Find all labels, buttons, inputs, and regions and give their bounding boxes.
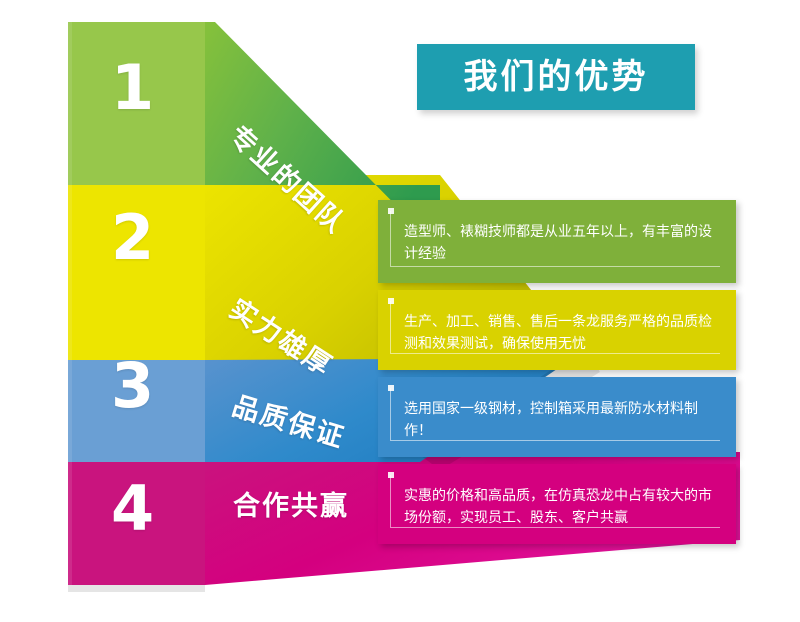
description-text-4: 实惠的价格和高品质，在仿真恐龙中占有较大的市场份额，实现员工、股东、客户共赢 [404,486,716,529]
description-text-3: 选用国家一级钢材，控制箱采用最新防水材料制作！ [404,399,716,442]
description-text-1: 造型师、裱糊技师都是从业五年以上，有丰富的设计经验 [404,222,716,265]
description-panel-3: 选用国家一级钢材，控制箱采用最新防水材料制作！ [378,377,736,457]
step-number-3: 3 [111,355,154,417]
step-number-1: 1 [111,57,154,119]
panel-dot-icon [388,208,394,214]
panel-dot-icon [388,472,394,478]
step-number-2: 2 [111,207,154,269]
infographic-root: 我们的优势 1 2 3 4 专业的团队 实力雄厚 品质保证 合作共赢 造型师、裱… [0,0,800,622]
description-text-2: 生产、加工、销售、售后一条龙服务严格的品质检测和效果测试，确保使用无忧 [404,312,716,355]
step-number-4: 4 [111,478,154,540]
panel-dot-icon [388,385,394,391]
ribbon-caption-4: 合作共赢 [233,493,349,520]
description-panel-1: 造型师、裱糊技师都是从业五年以上，有丰富的设计经验 [378,200,736,283]
title-banner: 我们的优势 [417,44,695,110]
description-panel-4: 实惠的价格和高品质，在仿真恐龙中占有较大的市场份额，实现员工、股东、客户共赢 [378,464,736,544]
description-panel-2: 生产、加工、销售、售后一条龙服务严格的品质检测和效果测试，确保使用无忧 [378,290,736,370]
panel-dot-icon [388,298,394,304]
page-title: 我们的优势 [464,60,649,94]
